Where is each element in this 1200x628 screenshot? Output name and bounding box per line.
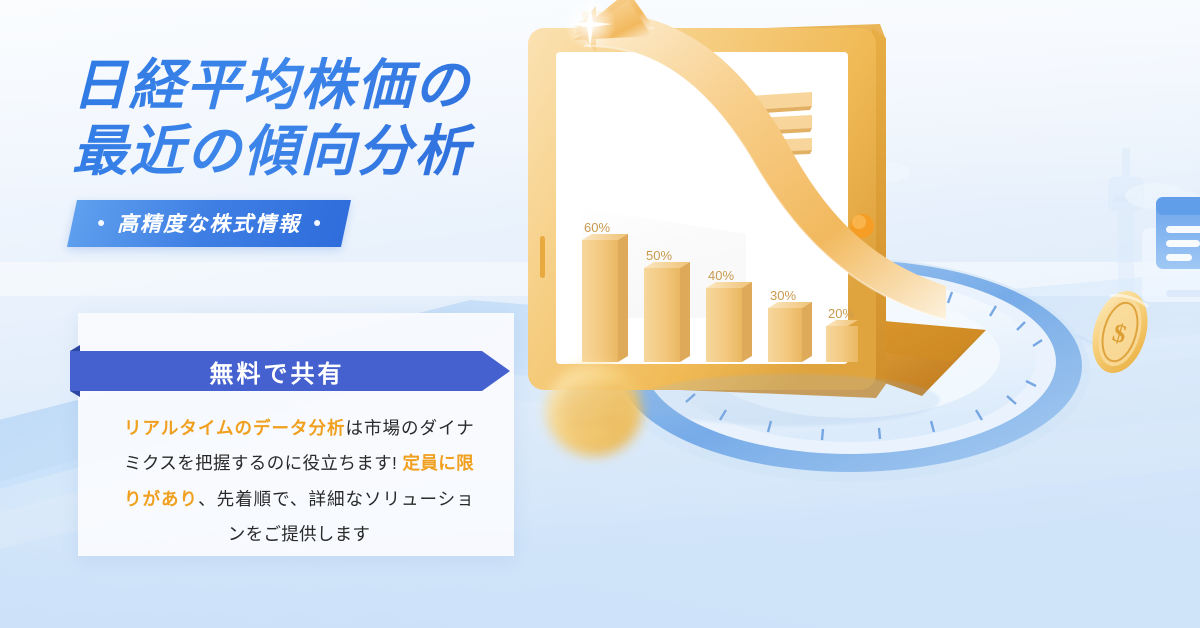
- promo-banner: 日経平均株価の最近の傾向分析 高精度な株式情報 無料で共有 リアルタイムのデータ…: [0, 0, 1200, 628]
- title-line-2: 最近の傾向分析: [72, 118, 632, 184]
- headline-block: 日経平均株価の最近の傾向分析 高精度な株式情報: [72, 52, 632, 247]
- card-highlight-1: リアルタイムのデータ分析: [124, 418, 346, 438]
- info-card: 無料で共有 リアルタイムのデータ分析は市場のダイナミクスを把握するのに役立ちます…: [78, 313, 514, 556]
- bar-1: [582, 234, 628, 362]
- bar-5: [826, 320, 858, 362]
- subtitle-badge: 高精度な株式情報: [67, 200, 351, 247]
- bar-3: [706, 282, 752, 362]
- bar-label-4: 30%: [770, 288, 796, 303]
- bar-label-2: 50%: [646, 248, 672, 263]
- bar-2: [644, 262, 690, 362]
- card-text-2: 、先着順で、詳細なソリューションをご提供します: [198, 489, 474, 544]
- bullet-dot-right-icon: [314, 220, 320, 226]
- title-line-1: 日経平均株価の: [72, 54, 471, 116]
- bullet-dot-left-icon: [98, 220, 104, 226]
- ribbon-banner: 無料で共有: [70, 345, 510, 397]
- coin-left: [546, 364, 642, 456]
- page-title: 日経平均株価の最近の傾向分析: [72, 52, 632, 184]
- bar-label-5: 20%: [828, 306, 854, 321]
- card-body-text: リアルタイムのデータ分析は市場のダイナミクスを把握するのに役立ちます! 定員に限…: [124, 411, 474, 552]
- bar-4: [768, 302, 812, 362]
- subtitle-badge-label: 高精度な株式情報: [117, 208, 301, 238]
- ribbon-label: 無料で共有: [70, 345, 510, 397]
- coin-right: $: [1083, 284, 1156, 379]
- bar-label-3: 40%: [708, 268, 734, 283]
